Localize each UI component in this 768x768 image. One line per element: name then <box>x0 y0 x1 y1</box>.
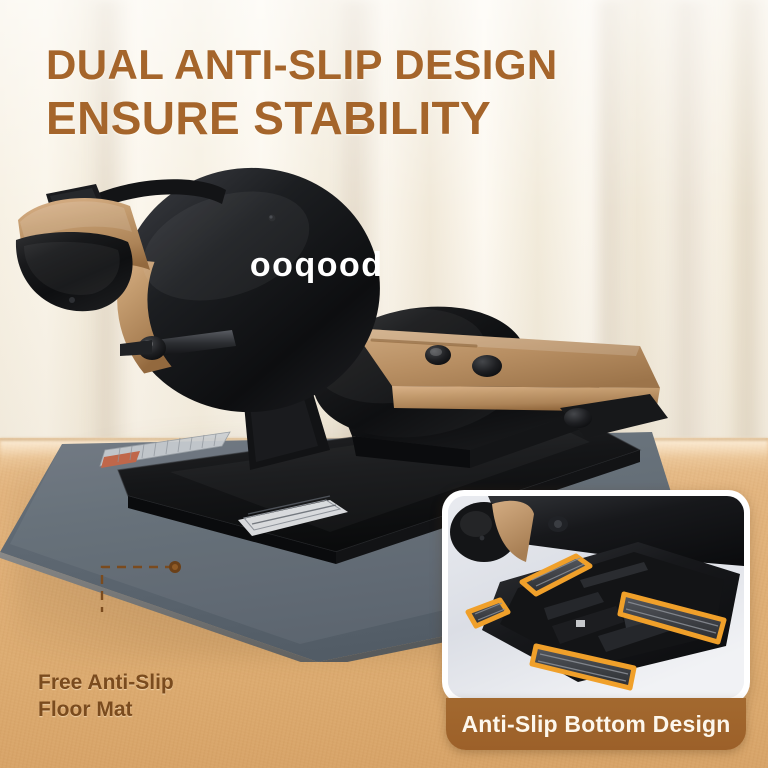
svg-text:pooboo: pooboo <box>248 250 382 288</box>
free-mat-callout: Free Anti-Slip Floor Mat <box>38 670 174 724</box>
headline-line-2: ENSURE STABILITY <box>46 95 686 142</box>
headline-line-1: DUAL ANTI-SLIP DESIGN <box>46 44 686 87</box>
product-marketing-image: pooboo DUAL ANTI-SLIP DESIGN ENSURE STAB… <box>0 0 768 768</box>
inset-label-bar: Anti-Slip Bottom Design <box>446 698 746 750</box>
free-mat-callout-line-1: Free Anti-Slip <box>38 670 174 697</box>
free-mat-callout-line-2: Floor Mat <box>38 697 174 724</box>
inset-underside-photo <box>448 496 744 698</box>
callout-anchor-dot <box>168 560 182 574</box>
inset-label-text: Anti-Slip Bottom Design <box>461 711 730 738</box>
inset-callout-panel: Anti-Slip Bottom Design <box>436 484 756 752</box>
headline-block: DUAL ANTI-SLIP DESIGN ENSURE STABILITY <box>46 44 686 142</box>
inset-photo-card <box>442 490 750 704</box>
brand-logo: pooboo <box>248 250 382 288</box>
